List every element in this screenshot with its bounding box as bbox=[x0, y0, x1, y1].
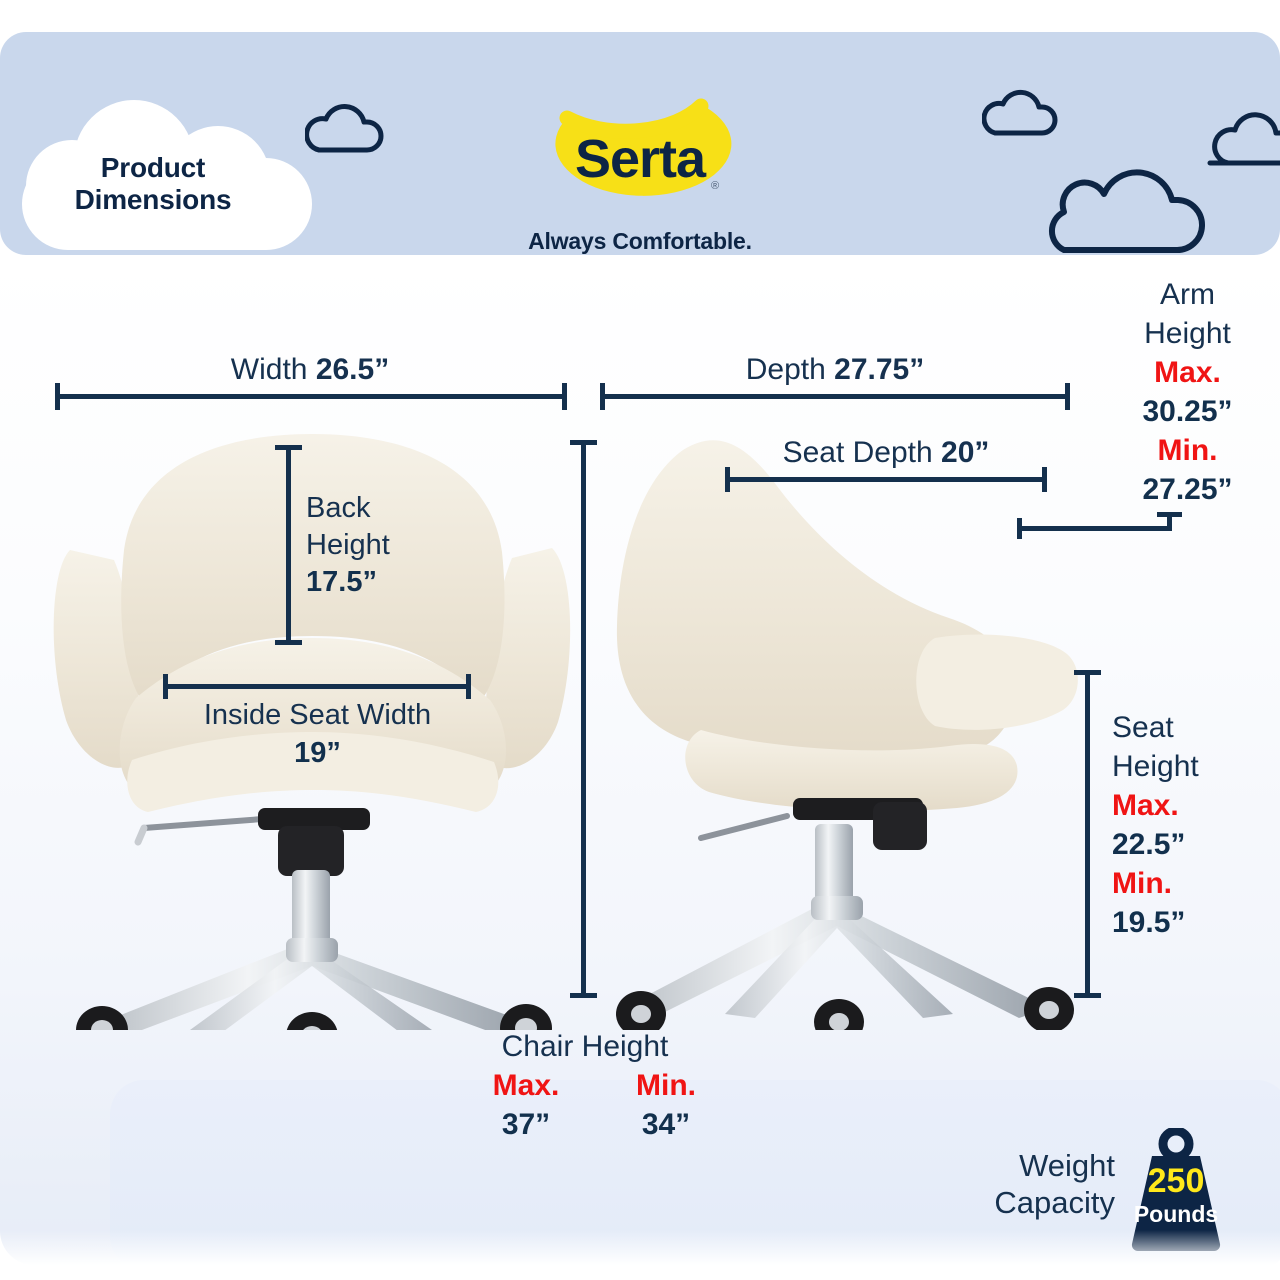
arm-height-tick-left bbox=[1017, 518, 1022, 539]
serta-wordmark: Serta bbox=[505, 128, 775, 190]
seat-height-tick-top bbox=[1074, 670, 1101, 675]
arm-height-label: Arm Height Max. 30.25” Min. 27.25” bbox=[1100, 275, 1275, 509]
chair-height-min-value: 34” bbox=[592, 1105, 740, 1144]
depth-tick-left bbox=[600, 383, 605, 410]
badge-title-line2: Dimensions bbox=[22, 184, 284, 216]
tagline: Always Comfortable. bbox=[430, 228, 850, 255]
inside-seat-width-value: 19” bbox=[160, 735, 475, 773]
inside-seat-width-label-text: Inside Seat Width bbox=[160, 697, 475, 735]
seat-height-tick-bottom bbox=[1074, 993, 1101, 998]
seat-height-max-value: 22.5” bbox=[1112, 825, 1277, 864]
depth-tick-right bbox=[1065, 383, 1070, 410]
arm-height-label-line1: Arm bbox=[1100, 275, 1275, 314]
chair-height-dimension-line bbox=[581, 440, 586, 998]
infographic-page: Product Dimensions Serta ® Always Comfor… bbox=[0, 0, 1280, 1280]
arm-height-dimension-line bbox=[1017, 526, 1172, 531]
chair-height-tick-top bbox=[570, 440, 597, 445]
inside-seat-width-label: Inside Seat Width 19” bbox=[160, 697, 475, 772]
cloud-outline-icon-4 bbox=[1036, 158, 1216, 255]
back-height-label: Back Height 17.5” bbox=[306, 490, 390, 601]
arm-height-max-value: 30.25” bbox=[1100, 392, 1275, 431]
chair-height-min-label: Min. bbox=[592, 1066, 740, 1105]
header-banner: Product Dimensions Serta ® Always Comfor… bbox=[0, 32, 1280, 255]
badge-title: Product Dimensions bbox=[22, 152, 284, 217]
depth-value: 27.75” bbox=[834, 353, 924, 386]
back-height-tick-top bbox=[275, 445, 302, 450]
arm-height-min-label: Min. bbox=[1100, 431, 1275, 470]
width-tick-right bbox=[562, 383, 567, 410]
weight-capacity-label: Weight Capacity bbox=[965, 1148, 1115, 1221]
cloud-outline-icon-2 bbox=[982, 85, 1068, 139]
chair-height-max-block: Max. 37” bbox=[452, 1066, 600, 1144]
product-dimensions-badge: Product Dimensions bbox=[22, 100, 312, 250]
weight-capacity-label-line1: Weight bbox=[965, 1148, 1115, 1185]
seat-depth-value: 20” bbox=[941, 436, 989, 469]
registered-mark: ® bbox=[711, 180, 719, 192]
seat-depth-label: Seat Depth 20” bbox=[725, 435, 1047, 471]
back-height-value: 17.5” bbox=[306, 564, 390, 601]
chair-height-tick-bottom bbox=[570, 993, 597, 998]
seat-height-label-line1: Seat bbox=[1112, 708, 1277, 747]
weight-capacity-value: 250 bbox=[1128, 1162, 1224, 1201]
arm-height-max-label: Max. bbox=[1100, 353, 1275, 392]
chair-side-view-image bbox=[605, 430, 1085, 1030]
chair-height-max-value: 37” bbox=[452, 1105, 600, 1144]
arm-height-tick-right-cap bbox=[1157, 512, 1182, 517]
seat-depth-label-text: Seat Depth bbox=[783, 436, 933, 469]
back-height-label-line1: Back bbox=[306, 490, 390, 527]
weight-capacity-label-line2: Capacity bbox=[965, 1185, 1115, 1222]
cloud-outline-icon-1 bbox=[305, 100, 395, 156]
width-dimension-line bbox=[55, 394, 567, 399]
chair-height-label: Chair Height bbox=[440, 1028, 730, 1066]
width-label: Width 26.5” bbox=[55, 352, 565, 388]
bottom-fade bbox=[0, 1230, 1280, 1280]
chair-height-max-label: Max. bbox=[452, 1066, 600, 1105]
seat-depth-tick-left bbox=[725, 467, 730, 492]
chair-height-label-text: Chair Height bbox=[440, 1028, 730, 1066]
seat-height-min-label: Min. bbox=[1112, 864, 1277, 903]
seat-height-label-line2: Height bbox=[1112, 747, 1277, 786]
weight-capacity-unit: Pounds bbox=[1126, 1201, 1226, 1228]
back-height-label-line2: Height bbox=[306, 527, 390, 564]
seat-height-label: Seat Height Max. 22.5” Min. 19.5” bbox=[1112, 708, 1277, 942]
depth-dimension-line bbox=[600, 394, 1070, 399]
seat-height-min-value: 19.5” bbox=[1112, 903, 1277, 942]
inside-seat-width-dimension-line bbox=[163, 684, 471, 689]
seat-height-dimension-line bbox=[1085, 670, 1090, 998]
width-value: 26.5” bbox=[316, 353, 389, 386]
depth-label: Depth 27.75” bbox=[600, 352, 1070, 388]
seat-depth-dimension-line bbox=[725, 477, 1047, 482]
back-height-dimension-line bbox=[286, 445, 291, 645]
depth-label-text: Depth bbox=[746, 353, 826, 386]
width-tick-left bbox=[55, 383, 60, 410]
chair-height-min-block: Min. 34” bbox=[592, 1066, 740, 1144]
seat-depth-tick-right bbox=[1042, 467, 1047, 492]
seat-height-max-label: Max. bbox=[1112, 786, 1277, 825]
badge-title-line1: Product bbox=[22, 152, 284, 184]
arm-height-label-line2: Height bbox=[1100, 314, 1275, 353]
width-label-text: Width bbox=[231, 353, 308, 386]
inside-seat-width-tick-left bbox=[163, 674, 168, 699]
inside-seat-width-tick-right bbox=[466, 674, 471, 699]
back-height-tick-bottom bbox=[275, 640, 302, 645]
arm-height-min-value: 27.25” bbox=[1100, 470, 1275, 509]
